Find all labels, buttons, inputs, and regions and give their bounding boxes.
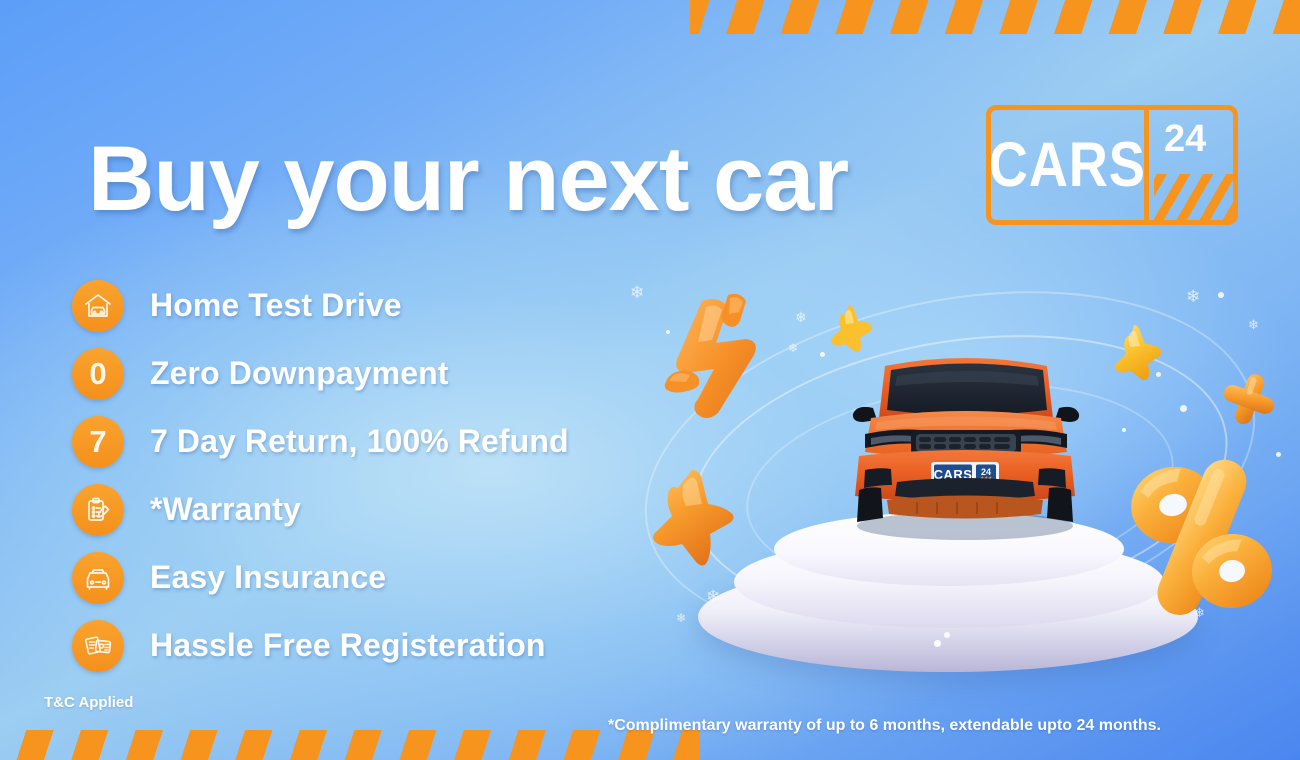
cars24-logo: CARS 24: [986, 105, 1238, 225]
snowflake-icon: ❄: [1248, 318, 1259, 331]
promo-banner: Buy your next car CARS 24 Home Test Driv…: [0, 0, 1300, 760]
svg-text:24: 24: [981, 467, 991, 477]
plus-3d-orange-icon: [1218, 368, 1280, 435]
snowflake-icon: ❄: [1186, 288, 1200, 305]
logo-number: 24: [1164, 120, 1206, 158]
clipboard-pen-icon: [72, 484, 124, 536]
seven-badge-icon: 7: [72, 416, 124, 468]
terms-note: T&C Applied: [44, 694, 133, 711]
feature-label: Home Test Drive: [150, 287, 402, 324]
sparkle-dot-icon: [1218, 292, 1224, 298]
snowflake-icon: ❄: [795, 310, 807, 324]
logo-word-box: CARS: [991, 110, 1149, 220]
home-car-icon: [72, 280, 124, 332]
sparkle-dot-icon: [934, 640, 941, 647]
star-3d-orange-icon: [648, 466, 738, 576]
zero-badge-icon: 0: [72, 348, 124, 400]
snowflake-icon: ❄: [676, 612, 686, 624]
hero-car-image: CARS 24: [833, 330, 1098, 545]
warranty-disclaimer: *Complimentary warranty of up to 6 month…: [608, 717, 1161, 735]
sparkle-dot-icon: [1156, 372, 1161, 377]
documents-icon: [72, 620, 124, 672]
feature-label: Zero Downpayment: [150, 355, 449, 392]
feature-label: Hassle Free Registeration: [150, 627, 546, 664]
logo-word: CARS: [989, 134, 1146, 197]
feature-item: 7 7 Day Return, 100% Refund: [72, 408, 569, 475]
feature-item: *Warranty: [72, 476, 569, 543]
feature-label: Easy Insurance: [150, 559, 386, 596]
sparkle-dot-icon: [944, 632, 950, 638]
car-front-icon: [72, 552, 124, 604]
star-3d-yellow-icon: [1105, 322, 1163, 385]
snowflake-icon: ❄: [1194, 606, 1205, 619]
feature-label: 7 Day Return, 100% Refund: [150, 423, 569, 460]
snowflake-icon: ❄: [706, 588, 720, 605]
feature-item: 0 Zero Downpayment: [72, 340, 569, 407]
bolt-fragment-3d-icon: [661, 368, 701, 401]
page-title: Buy your next car: [88, 133, 848, 225]
snowflake-icon: ❄: [788, 342, 798, 354]
feature-label: *Warranty: [150, 491, 301, 528]
sparkle-dot-icon: [1180, 405, 1187, 412]
sparkle-dot-icon: [1276, 452, 1281, 457]
hazard-stripes-bottom: [0, 730, 700, 760]
badge-number: 0: [89, 358, 106, 389]
percent-symbol-3d-icon: [1126, 455, 1276, 625]
bolt-fragment-3d-icon: [718, 292, 750, 333]
sparkle-dot-icon: [820, 352, 825, 357]
feature-item: Home Test Drive: [72, 272, 569, 339]
sparkle-dot-icon: [1122, 428, 1126, 432]
sparkle-dot-icon: [666, 330, 670, 334]
feature-item: Hassle Free Registeration: [72, 612, 569, 679]
hazard-stripes-top: [690, 0, 1300, 34]
badge-number: 7: [89, 426, 106, 457]
logo-number-box: 24: [1154, 110, 1233, 220]
feature-item: Easy Insurance: [72, 544, 569, 611]
snowflake-icon: ❄: [630, 284, 644, 301]
star-3d-yellow-icon: [824, 302, 874, 357]
feature-list: Home Test Drive 0 Zero Downpayment 7 7 D…: [72, 272, 569, 680]
logo-stripes-icon: [1154, 174, 1233, 220]
